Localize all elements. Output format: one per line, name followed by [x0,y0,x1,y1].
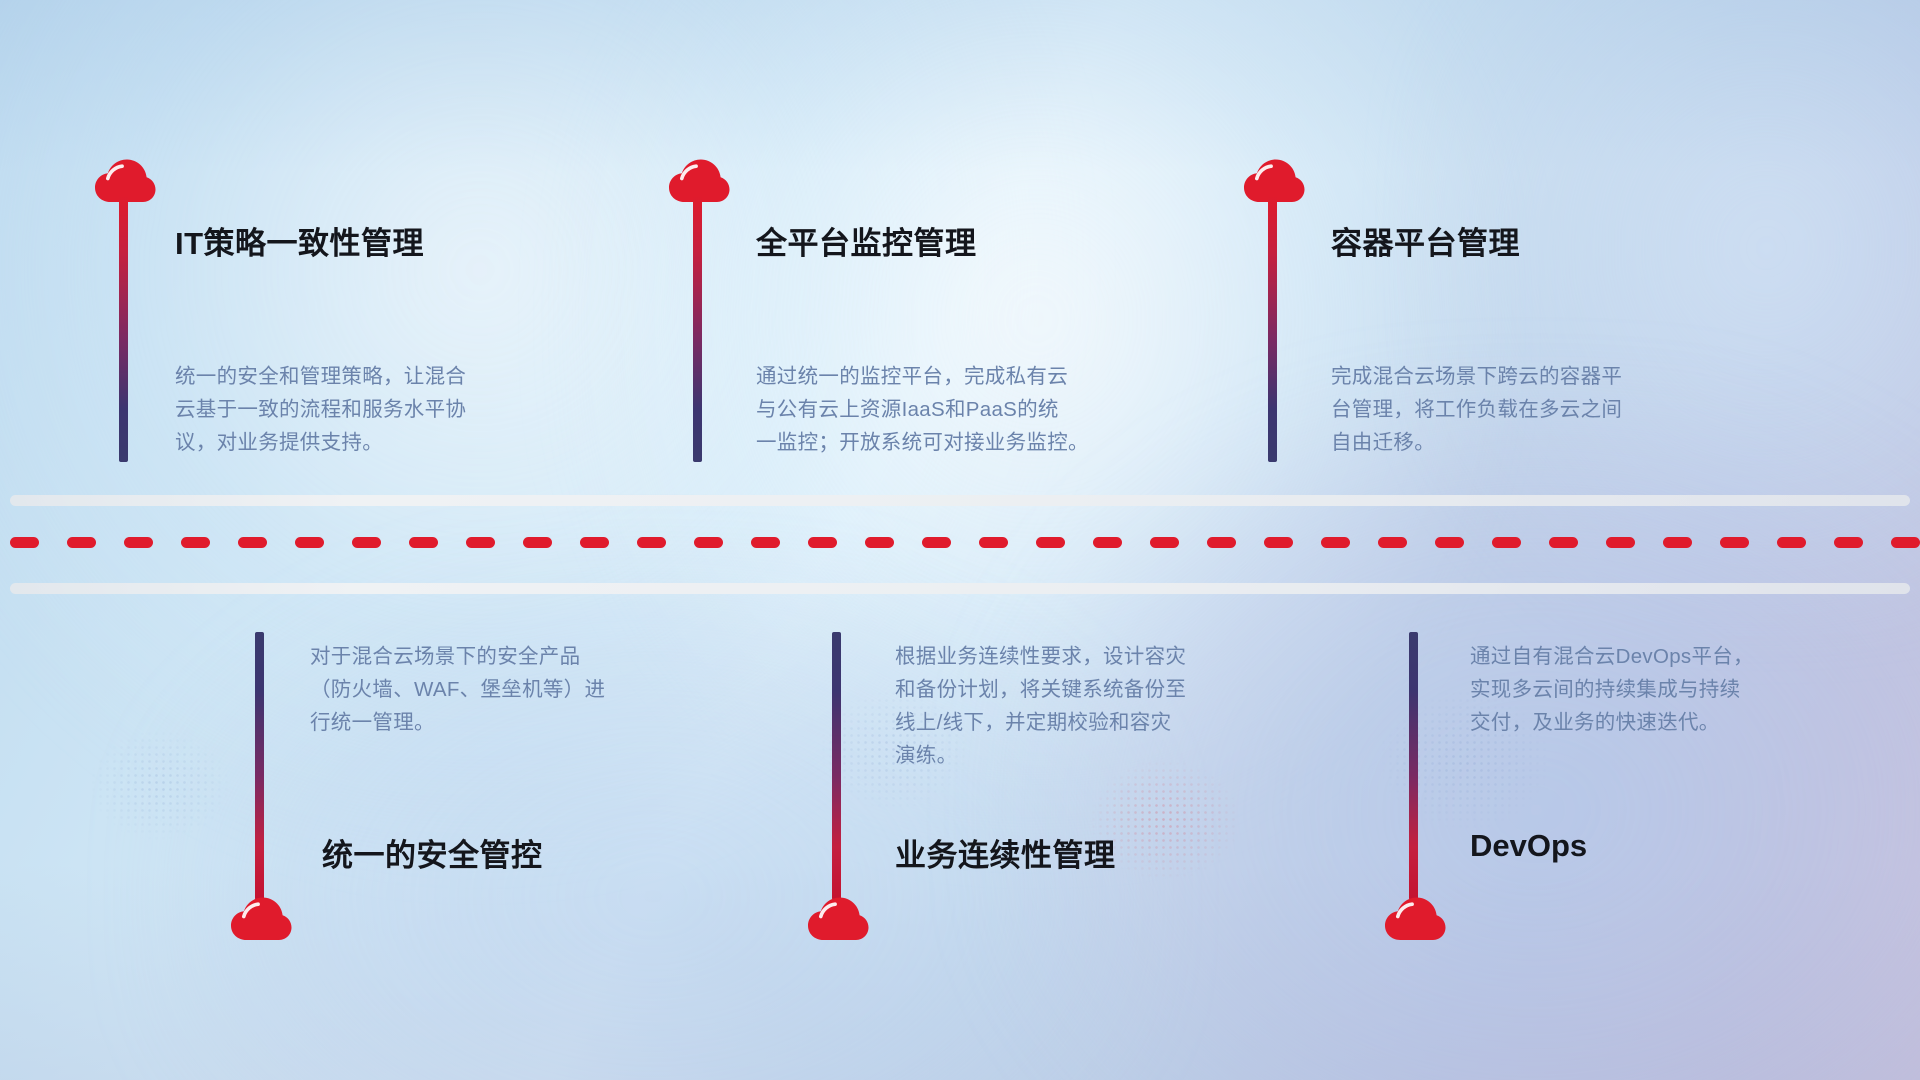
card-heading: 容器平台管理 [1331,218,1520,263]
connector-line [1268,196,1277,462]
dash-segment [523,537,552,548]
dash-segment [1207,537,1236,548]
dash-segment [1777,537,1806,548]
dash-segment [1036,537,1065,548]
infographic-canvas: IT策略一致性管理 统一的安全和管理策略，让混合 云基于一致的流程和服务水平协 … [0,0,1920,1080]
cloud-icon [1384,896,1446,942]
connector-line [1409,632,1418,900]
dashed-line [0,537,1920,548]
connector-line [693,196,702,462]
dash-segment [181,537,210,548]
card-heading: IT策略一致性管理 [175,218,424,263]
connector-line [255,632,264,900]
dash-segment [1321,537,1350,548]
card-body: 通过自有混合云DevOps平台， 实现多云间的持续集成与持续 交付，及业务的快速… [1470,640,1910,739]
dash-segment [922,537,951,548]
dash-segment [409,537,438,548]
dash-segment [580,537,609,548]
dash-segment [1150,537,1179,548]
card-body: 完成混合云场景下跨云的容器平 台管理，将工作负载在多云之间 自由迁移。 [1331,360,1771,459]
top-rail [10,495,1910,506]
dash-segment [124,537,153,548]
dash-segment [1891,537,1920,548]
card-body: 通过统一的监控平台，完成私有云 与公有云上资源IaaS和PaaS的统 一监控；开… [756,360,1206,459]
dash-segment [466,537,495,548]
dash-segment [865,537,894,548]
card-heading: DevOps [1470,828,1587,864]
divider-band [0,487,1920,597]
card-body: 根据业务连续性要求，设计容灾 和备份计划，将关键系统备份至 线上/线下，并定期校… [895,640,1335,772]
dash-segment [67,537,96,548]
card-heading: 统一的安全管控 [322,830,543,875]
dash-segment [352,537,381,548]
dash-segment [10,537,39,548]
card-body: 对于混合云场景下的安全产品 （防火墙、WAF、堡垒机等）进 行统一管理。 [310,640,740,739]
dash-segment [1549,537,1578,548]
card-heading: 业务连续性管理 [895,830,1116,875]
dash-segment [637,537,666,548]
dash-segment [1378,537,1407,548]
connector-line [119,196,128,462]
bottom-rail [10,583,1910,594]
dash-segment [1834,537,1863,548]
dash-segment [1435,537,1464,548]
dash-segment [1720,537,1749,548]
dash-segment [808,537,837,548]
dash-segment [694,537,723,548]
card-heading: 全平台监控管理 [756,218,977,263]
cloud-icon [807,896,869,942]
dash-segment [1093,537,1122,548]
dash-segment [1663,537,1692,548]
dash-segment [238,537,267,548]
connector-line [832,632,841,900]
card-body: 统一的安全和管理策略，让混合 云基于一致的流程和服务水平协 议，对业务提供支持。 [175,360,605,459]
dash-segment [295,537,324,548]
cloud-icon [230,896,292,942]
dash-segment [979,537,1008,548]
dash-segment [1606,537,1635,548]
dash-segment [751,537,780,548]
dash-segment [1492,537,1521,548]
dash-segment [1264,537,1293,548]
